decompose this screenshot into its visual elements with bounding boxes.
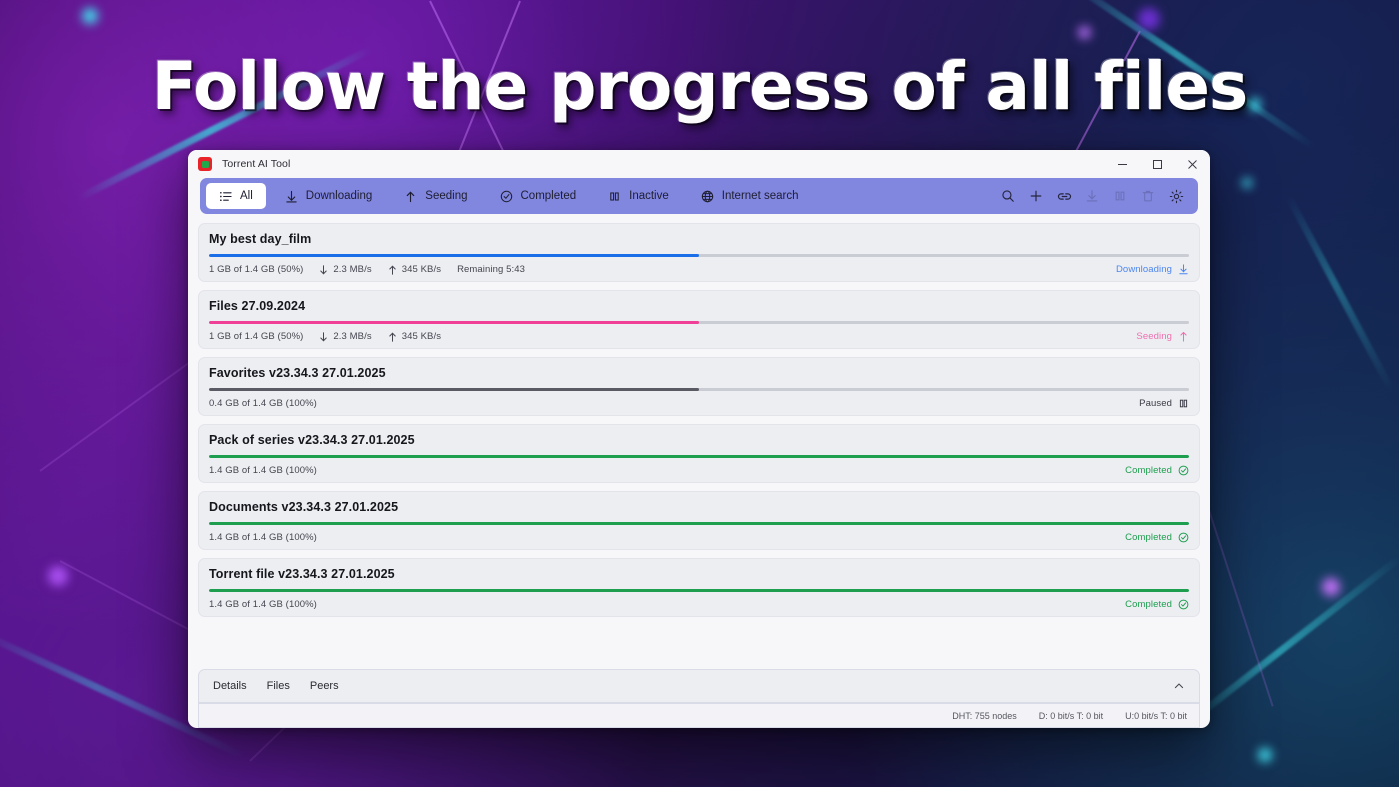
status-badge: Seeding	[1136, 331, 1189, 342]
tab-internet-search-label: Internet search	[722, 190, 799, 202]
window-title: Torrent AI Tool	[222, 158, 290, 170]
status-label: Downloading	[1116, 264, 1172, 275]
search-button[interactable]	[996, 184, 1020, 208]
dht-status: DHT: 755 nodes	[952, 711, 1017, 721]
download-arrow-icon	[319, 332, 328, 342]
status-label: Completed	[1125, 532, 1172, 543]
torrent-name: My best day_film	[209, 232, 1189, 246]
tab-all[interactable]: All	[206, 183, 266, 209]
list-icon	[219, 190, 232, 203]
torrent-meta: 1.4 GB of 1.4 GB (100%) Completed	[209, 532, 1189, 543]
progress-bar	[209, 254, 1189, 257]
check-circle-icon	[1178, 465, 1189, 476]
pause-icon	[1113, 189, 1127, 203]
torrent-row[interactable]: Files 27.09.2024 1 GB of 1.4 GB (50%) 2.…	[198, 290, 1200, 349]
decor-dot	[48, 566, 68, 586]
app-window: Torrent AI Tool	[188, 150, 1210, 728]
window-controls	[1105, 150, 1210, 178]
download-speed: 2.3 MB/s	[319, 331, 371, 342]
progress-bar	[209, 321, 1189, 324]
toolbar-actions	[996, 184, 1188, 208]
link-icon	[1057, 189, 1072, 204]
progress-bar	[209, 589, 1189, 592]
gear-icon	[1169, 189, 1184, 204]
torrent-meta: 1.4 GB of 1.4 GB (100%) Completed	[209, 599, 1189, 610]
add-magnet-button[interactable]	[1052, 184, 1076, 208]
check-circle-icon	[1178, 599, 1189, 610]
progress-fill	[209, 455, 1189, 458]
app-logo-icon	[198, 157, 212, 171]
upload-icon	[1178, 331, 1189, 342]
details-tabs: Details Files Peers	[199, 670, 1199, 703]
add-torrent-button[interactable]	[1024, 184, 1048, 208]
progress-fill	[209, 321, 699, 324]
download-arrow-icon	[319, 265, 328, 275]
progress-fill	[209, 388, 699, 391]
tab-downloading[interactable]: Downloading	[272, 183, 386, 209]
decor-dot	[1258, 748, 1272, 762]
torrent-row[interactable]: Favorites v23.34.3 27.01.2025 0.4 GB of …	[198, 357, 1200, 416]
delete-button[interactable]	[1136, 184, 1160, 208]
maximize-icon[interactable]	[1140, 150, 1175, 178]
download-icon	[1085, 189, 1099, 203]
torrent-row[interactable]: My best day_film 1 GB of 1.4 GB (50%) 2.…	[198, 223, 1200, 282]
tab-completed[interactable]: Completed	[487, 183, 590, 209]
download-icon	[285, 190, 298, 203]
torrent-name: Pack of series v23.34.3 27.01.2025	[209, 433, 1189, 447]
tab-files[interactable]: Files	[267, 680, 290, 692]
download-speed-value: 2.3 MB/s	[333, 264, 371, 275]
torrent-name: Files 27.09.2024	[209, 299, 1189, 313]
tab-downloading-label: Downloading	[306, 190, 373, 202]
progress-fill	[209, 522, 1189, 525]
progress-bar	[209, 388, 1189, 391]
status-label: Completed	[1125, 599, 1172, 610]
upload-status: U:0 bit/s T: 0 bit	[1125, 711, 1187, 721]
toolbar-container: All Downloading Seeding	[188, 178, 1210, 214]
progress-bar	[209, 522, 1189, 525]
pause-button[interactable]	[1108, 184, 1132, 208]
progress-bar	[209, 455, 1189, 458]
page-title: Follow the progress of all files	[0, 48, 1399, 125]
torrent-row[interactable]: Documents v23.34.3 27.01.2025 1.4 GB of …	[198, 491, 1200, 550]
upload-speed-value: 345 KB/s	[402, 331, 441, 342]
tab-peers[interactable]: Peers	[310, 680, 339, 692]
torrent-row[interactable]: Pack of series v23.34.3 27.01.2025 1.4 G…	[198, 424, 1200, 483]
torrent-size: 1 GB of 1.4 GB (50%)	[209, 331, 303, 342]
decor-dot	[82, 8, 98, 24]
check-circle-icon	[1178, 532, 1189, 543]
upload-arrow-icon	[388, 265, 397, 275]
torrent-meta: 0.4 GB of 1.4 GB (100%) Paused	[209, 398, 1189, 409]
torrent-size: 1.4 GB of 1.4 GB (100%)	[209, 532, 317, 543]
tab-seeding[interactable]: Seeding	[391, 183, 480, 209]
torrent-list: My best day_film 1 GB of 1.4 GB (50%) 2.…	[188, 214, 1210, 665]
torrent-row[interactable]: Torrent file v23.34.3 27.01.2025 1.4 GB …	[198, 558, 1200, 617]
tab-details[interactable]: Details	[213, 680, 247, 692]
decor-dot	[1322, 578, 1340, 596]
torrent-meta: 1 GB of 1.4 GB (50%) 2.3 MB/s 345 KB/s S…	[209, 331, 1189, 342]
close-icon[interactable]	[1175, 150, 1210, 178]
download-status: D: 0 bit/s T: 0 bit	[1039, 711, 1103, 721]
status-label: Seeding	[1136, 331, 1172, 342]
progress-fill	[209, 254, 699, 257]
torrent-name: Torrent file v23.34.3 27.01.2025	[209, 567, 1189, 581]
tab-all-label: All	[240, 190, 253, 202]
decor-streak	[1285, 195, 1394, 393]
torrent-meta: 1 GB of 1.4 GB (50%) 2.3 MB/s 345 KB/s R…	[209, 264, 1189, 275]
decor-streak	[1178, 555, 1399, 733]
tab-inactive[interactable]: Inactive	[595, 183, 682, 209]
upload-speed: 345 KB/s	[388, 331, 441, 342]
download-speed-value: 2.3 MB/s	[333, 331, 371, 342]
remaining-time: Remaining 5:43	[457, 264, 525, 275]
tab-inactive-label: Inactive	[629, 190, 669, 202]
torrent-size: 1.4 GB of 1.4 GB (100%)	[209, 599, 317, 610]
download-speed: 2.3 MB/s	[319, 264, 371, 275]
trash-icon	[1141, 189, 1155, 203]
minimize-icon[interactable]	[1105, 150, 1140, 178]
upload-arrow-icon	[388, 332, 397, 342]
details-panel: Details Files Peers	[198, 669, 1200, 704]
status-badge: Completed	[1125, 599, 1189, 610]
upload-speed: 345 KB/s	[388, 264, 441, 275]
decor-dot	[1078, 26, 1091, 39]
upload-icon	[404, 190, 417, 203]
status-bar: DHT: 755 nodes D: 0 bit/s T: 0 bit U:0 b…	[198, 704, 1200, 728]
globe-icon	[701, 190, 714, 203]
status-badge: Completed	[1125, 532, 1189, 543]
start-button[interactable]	[1080, 184, 1104, 208]
torrent-name: Documents v23.34.3 27.01.2025	[209, 500, 1189, 514]
torrent-size: 1.4 GB of 1.4 GB (100%)	[209, 465, 317, 476]
search-icon	[1001, 189, 1015, 203]
download-icon	[1178, 264, 1189, 275]
plus-icon	[1029, 189, 1043, 203]
chevron-up-icon[interactable]	[1173, 680, 1185, 692]
upload-speed-value: 345 KB/s	[402, 264, 441, 275]
torrent-meta: 1.4 GB of 1.4 GB (100%) Completed	[209, 465, 1189, 476]
torrent-size: 0.4 GB of 1.4 GB (100%)	[209, 398, 317, 409]
tab-seeding-label: Seeding	[425, 190, 467, 202]
progress-fill	[209, 589, 1189, 592]
status-badge: Paused	[1139, 398, 1189, 409]
check-circle-icon	[500, 190, 513, 203]
status-label: Completed	[1125, 465, 1172, 476]
status-badge: Downloading	[1116, 264, 1189, 275]
tab-completed-label: Completed	[521, 190, 577, 202]
status-label: Paused	[1139, 398, 1172, 409]
torrent-name: Favorites v23.34.3 27.01.2025	[209, 366, 1189, 380]
main-toolbar: All Downloading Seeding	[200, 178, 1198, 214]
decor-dot	[1138, 8, 1160, 30]
torrent-size: 1 GB of 1.4 GB (50%)	[209, 264, 303, 275]
status-badge: Completed	[1125, 465, 1189, 476]
window-titlebar: Torrent AI Tool	[188, 150, 1210, 178]
pause-icon	[608, 190, 621, 203]
decor-dot	[1242, 178, 1252, 188]
settings-button[interactable]	[1164, 184, 1188, 208]
tab-internet-search[interactable]: Internet search	[688, 183, 812, 209]
pause-icon	[1178, 398, 1189, 409]
